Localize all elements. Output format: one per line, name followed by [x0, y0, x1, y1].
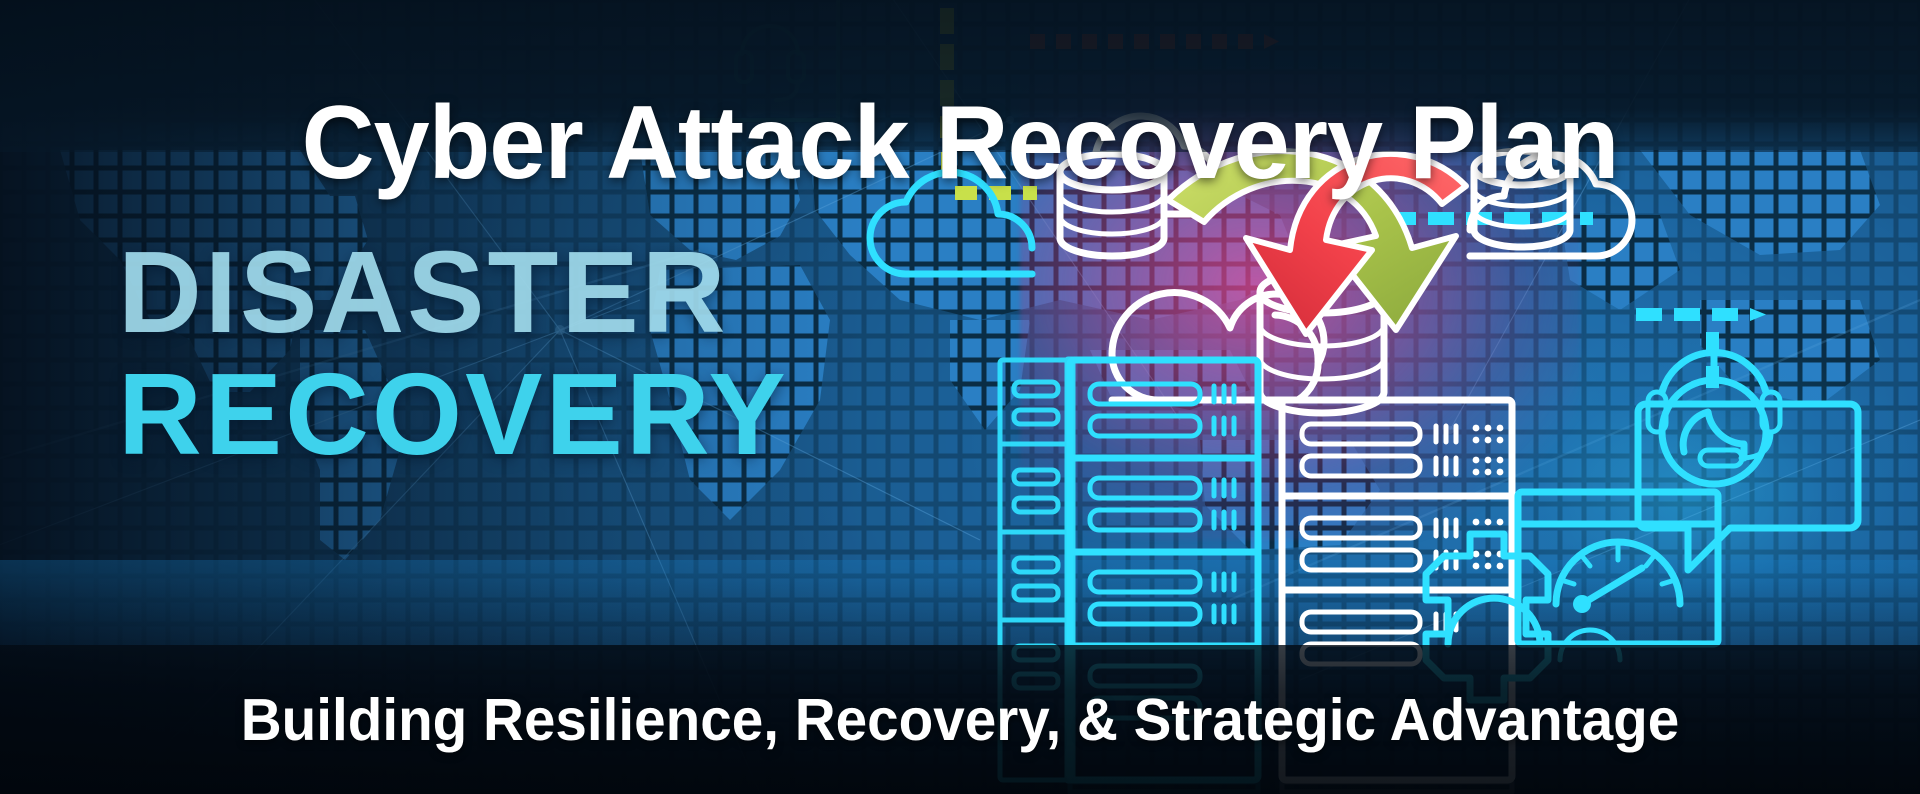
headline-disaster: DISASTER [118, 236, 789, 350]
support-headset-icon [1648, 352, 1780, 484]
headline-recovery: RECOVERY [118, 358, 789, 472]
cyber-attack-recovery-banner: Cyber Attack Recovery Plan DISASTER RECO… [0, 0, 1920, 794]
chat-bubble-icon [1638, 404, 1858, 570]
page-subtitle: Building Resilience, Recovery, & Strateg… [38, 645, 1881, 794]
gauge-icon [1556, 542, 1680, 613]
page-title: Cyber Attack Recovery Plan [29, 68, 1891, 220]
headline-block: DISASTER RECOVERY [118, 236, 789, 471]
